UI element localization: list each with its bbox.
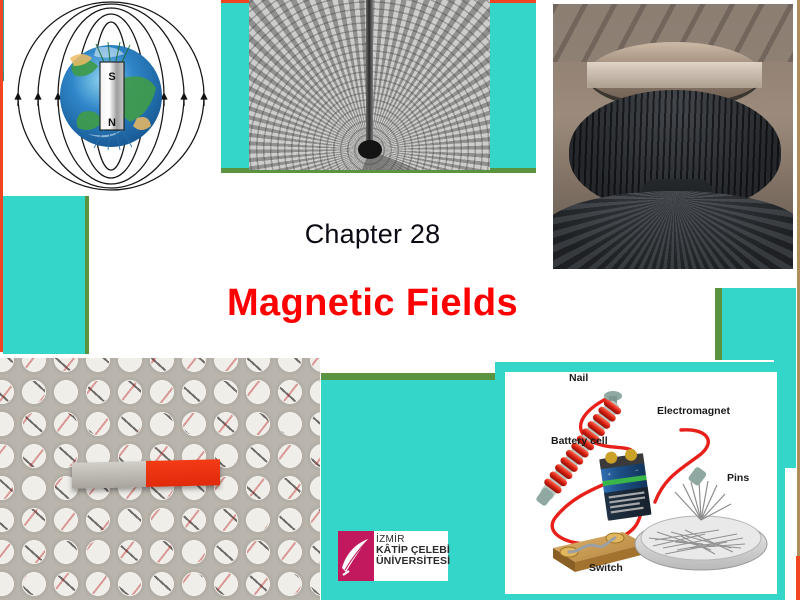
right-edge-red-stripe	[796, 556, 800, 600]
iron-filings-around-wire-photo	[249, 0, 490, 170]
lifting-magnet-rim	[587, 62, 762, 88]
green-edge-bottom-center	[321, 373, 495, 380]
teal-block-filings-left	[221, 0, 249, 170]
magnet-pole-north-label: N	[108, 117, 116, 129]
quill-feather-icon	[341, 538, 371, 576]
label-battery-cell: Battery cell	[551, 435, 608, 447]
logo-text: İZMİR KÂTİP ÇELEBİ ÜNİVERSİTESİ	[376, 535, 450, 567]
wire-entry-hub	[358, 140, 382, 159]
battery-cell: + −	[598, 447, 651, 520]
chapter-label: Chapter 28	[0, 219, 745, 250]
presentation-slide: S N	[0, 0, 800, 600]
label-electromagnet: Electromagnet	[657, 405, 730, 417]
label-pins: Pins	[727, 472, 749, 484]
bar-magnet-on-compass-array	[72, 459, 220, 489]
earth-magnetic-field-diagram: S N	[4, 0, 219, 192]
bar-magnet-south-half	[72, 461, 146, 489]
slide-title: Magnetic Fields	[0, 282, 745, 325]
earth-field-svg: S N	[4, 0, 219, 192]
bar-magnet-north-half	[146, 459, 220, 487]
label-nail: Nail	[569, 372, 588, 384]
label-switch: Switch	[589, 562, 623, 574]
electromagnet-circuit-diagram: + −	[505, 372, 777, 594]
logo-line-universitesi: ÜNİVERSİTESİ	[376, 556, 450, 567]
magnet-pole-south-label: S	[108, 71, 115, 83]
current-carrying-wire	[366, 0, 373, 150]
university-logo: İZMİR KÂTİP ÇELEBİ ÜNİVERSİTESİ	[338, 531, 448, 581]
pins-dish	[635, 480, 767, 570]
teal-block-filings-right	[490, 0, 536, 170]
